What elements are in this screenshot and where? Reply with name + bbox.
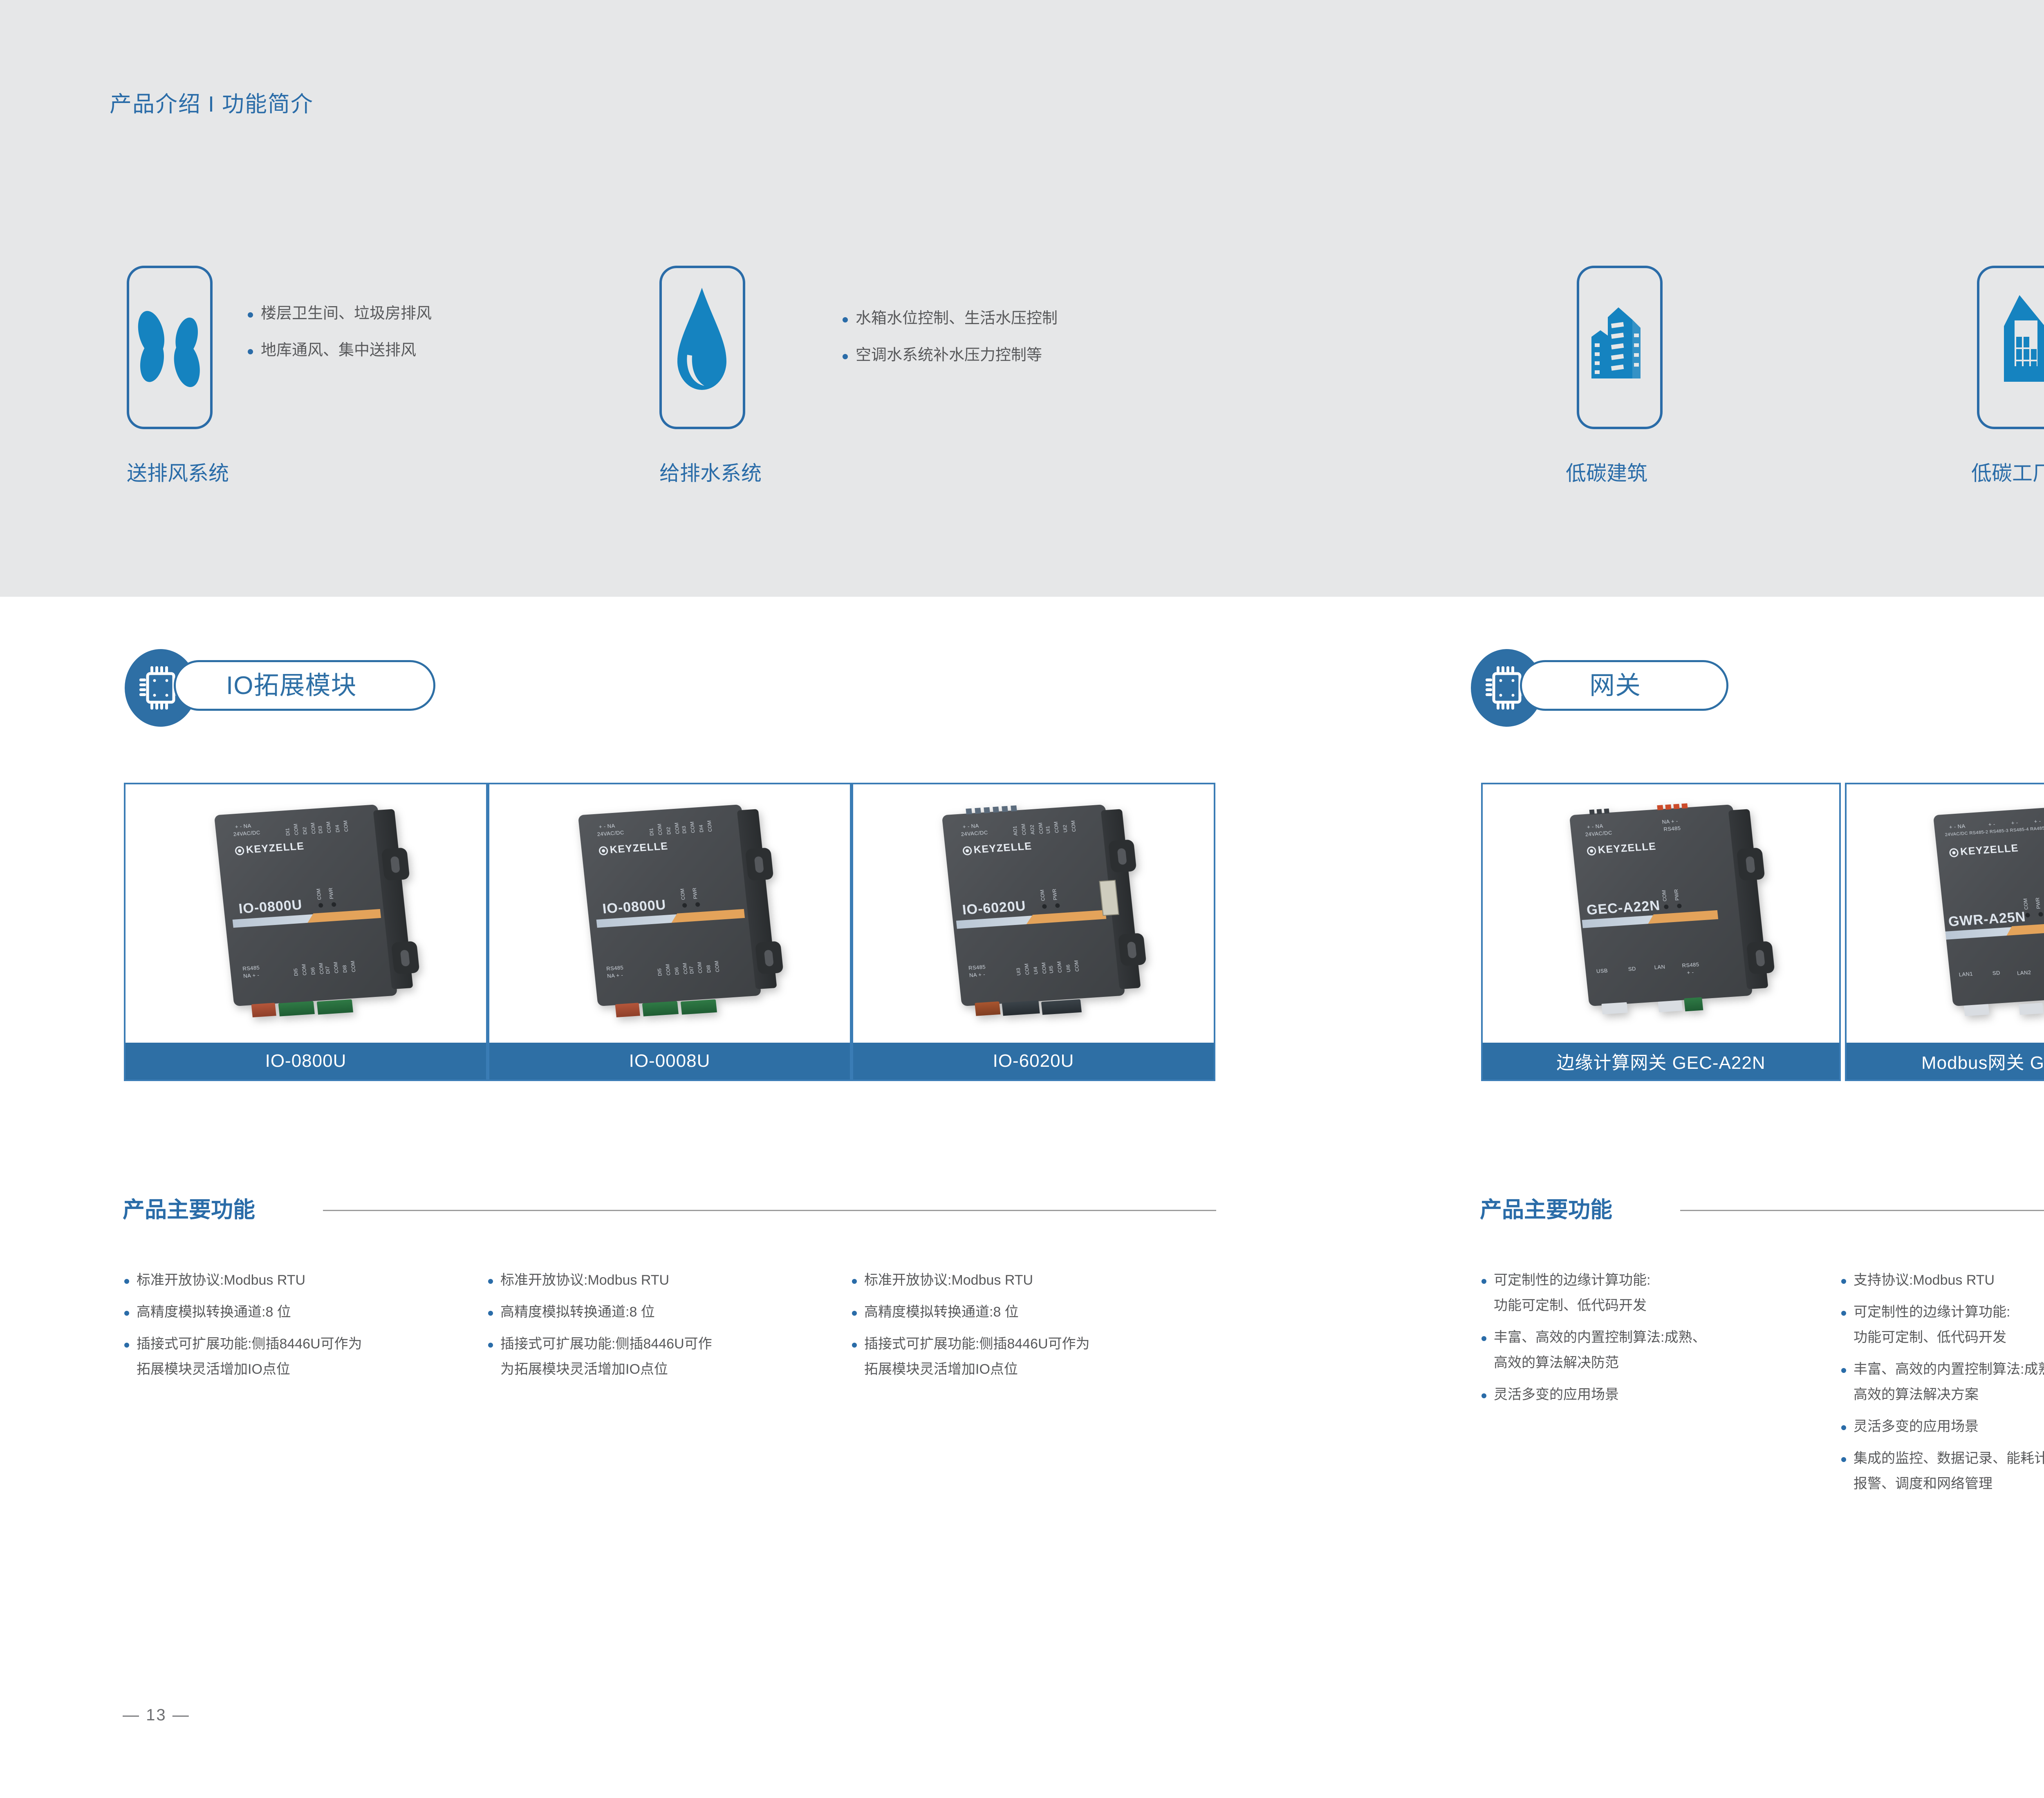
bottom-white-area: [0, 597, 2044, 1798]
feature-column: 标准开放协议:Modbus RTU 高精度模拟转换通道:8 位 插接式可扩展功能…: [850, 1273, 1218, 1394]
feature-bullet: 标准开放协议:Modbus RTU: [486, 1273, 842, 1287]
office-building-icon: [1579, 268, 1659, 427]
product-caption: IO-0008U: [489, 1043, 850, 1079]
feature-bullet: 灵活多变的应用场景: [1840, 1420, 2044, 1433]
product-caption: Modbus网关 GWR-A25N: [1847, 1043, 2044, 1079]
scenario-bullet: 地库通风、集中送排风: [245, 343, 432, 358]
scenario-bullets-water: 水箱水位控制、生活水压控制 空调水系统补水压力控制等: [840, 311, 1058, 384]
feature-bullet: 高精度模拟转换通道:8 位: [123, 1305, 478, 1319]
feature-bullet: 丰富、高效的内置控制算法:成熟、 高效的算法解决方案: [1840, 1362, 2044, 1402]
feature-bullet: 可定制性的边缘计算功能: 功能可定制、低代码开发: [1480, 1273, 1823, 1312]
application-label-factory: 低碳工厂: [1971, 457, 2044, 486]
features-heading-io: 产品主要功能: [123, 1191, 255, 1224]
feature-bullet: 标准开放协议:Modbus RTU: [850, 1273, 1218, 1287]
product-card[interactable]: + - NA 24VAC/DC DI1COMDI2COM DI3COMDI4CO…: [488, 783, 852, 1081]
scenario-label-fan: 送排风系统: [127, 457, 229, 486]
features-rule-gateway: [1680, 1210, 2044, 1211]
product-image: + - NA 24VAC/DC DI1COMDI2COM DI3COMDI4CO…: [489, 784, 850, 1043]
feature-column: 可定制性的边缘计算功能: 功能可定制、低代码开发 丰富、高效的内置控制算法:成熟…: [1480, 1273, 1823, 1420]
section-badge-io[interactable]: IO拓展模块: [125, 649, 435, 727]
product-card[interactable]: + - NA 24VAC/DC DI1COMDI2COM DI3COMDI4CO…: [124, 783, 488, 1081]
scenario-bullet: 水箱水位控制、生活水压控制: [840, 311, 1058, 326]
product-image: + - NA 24VAC/DC NA + - RS485 KEYZELLE CO…: [1483, 784, 1839, 1043]
scenario-bullets-fan: 楼层卫生间、垃圾房排风 地库通风、集中送排风: [245, 306, 432, 379]
product-caption: 边缘计算网关 GEC-A22N: [1483, 1043, 1839, 1079]
scenario-bullet: 空调水系统补水压力控制等: [840, 347, 1058, 363]
scenario-tile-water: [659, 266, 745, 429]
feature-bullet: 支持协议:Modbus RTU: [1840, 1273, 2044, 1287]
product-image: + - NA 24VAC/DC DI1COMDI2COM DI3COMDI4CO…: [126, 784, 486, 1043]
feature-bullet: 插接式可扩展功能:侧插8446U可作 为拓展模块灵活增加IO点位: [486, 1337, 842, 1376]
section-badge-label-io: IO拓展模块: [226, 665, 356, 701]
brochure-page: 产品介绍 I 功能简介 产品介绍 I 功能简介 楼层卫生间、垃圾房排风 地库通风…: [0, 0, 2044, 1798]
fan-icon: [129, 268, 209, 427]
water-drop-icon: [662, 268, 742, 427]
feature-column: 标准开放协议:Modbus RTU 高精度模拟转换通道:8 位 插接式可扩展功能…: [123, 1273, 478, 1394]
feature-bullet: 高精度模拟转换通道:8 位: [850, 1305, 1218, 1319]
feature-column: 支持协议:Modbus RTU 可定制性的边缘计算功能: 功能可定制、低代码开发…: [1840, 1273, 2044, 1509]
application-tile-building: [1577, 266, 1663, 429]
section-badge-gateway[interactable]: 网关: [1471, 649, 1737, 727]
feature-bullet: 标准开放协议:Modbus RTU: [123, 1273, 478, 1287]
feature-bullet: 灵活多变的应用场景: [1480, 1388, 1823, 1402]
section-badge-label-gateway: 网关: [1589, 665, 1641, 701]
product-card[interactable]: + - NA 24VAC/DC AO1COMAO2COM UI1COMUI2CO…: [852, 783, 1215, 1081]
product-image: + - NA 24VAC/DC AO1COMAO2COM UI1COMUI2CO…: [853, 784, 1214, 1043]
feature-bullet: 插接式可扩展功能:侧插8446U可作为 拓展模块灵活增加IO点位: [123, 1337, 478, 1376]
application-label-building: 低碳建筑: [1566, 457, 1647, 486]
scenario-label-water: 给排水系统: [659, 457, 762, 486]
product-card[interactable]: + - NA 24VAC/DC NA + - RS485 KEYZELLE CO…: [1481, 783, 1841, 1081]
features-heading-gateway: 产品主要功能: [1480, 1191, 1612, 1224]
product-card[interactable]: + - NA + - + - + - + - 24VAC/DC RS485-2 …: [1845, 783, 2044, 1081]
product-image: + - NA + - + - + - + - 24VAC/DC RS485-2 …: [1847, 784, 2044, 1043]
feature-column: 标准开放协议:Modbus RTU 高精度模拟转换通道:8 位 插接式可扩展功能…: [486, 1273, 842, 1394]
scenario-tile-fan: [127, 266, 213, 429]
feature-bullet: 高精度模拟转换通道:8 位: [486, 1305, 842, 1319]
feature-bullet: 可定制性的边缘计算功能: 功能可定制、低代码开发: [1840, 1305, 2044, 1344]
feature-bullet: 丰富、高效的内置控制算法:成熟、 高效的算法解决防范: [1480, 1330, 1823, 1370]
page-number-left: — 13 —: [123, 1706, 190, 1724]
scenario-bullet: 楼层卫生间、垃圾房排风: [245, 306, 432, 321]
factory-icon: [1979, 268, 2044, 427]
feature-bullet: 集成的监控、数据记录、能耗计量、 报警、调度和网络管理: [1840, 1451, 2044, 1491]
product-caption: IO-6020U: [853, 1043, 1214, 1079]
application-tile-factory: [1977, 266, 2044, 429]
page-header-left: 产品介绍 I 功能简介: [110, 86, 314, 118]
product-caption: IO-0800U: [126, 1043, 486, 1079]
feature-bullet: 插接式可扩展功能:侧插8446U可作为 拓展模块灵活增加IO点位: [850, 1337, 1218, 1376]
features-rule-io: [323, 1210, 1216, 1211]
